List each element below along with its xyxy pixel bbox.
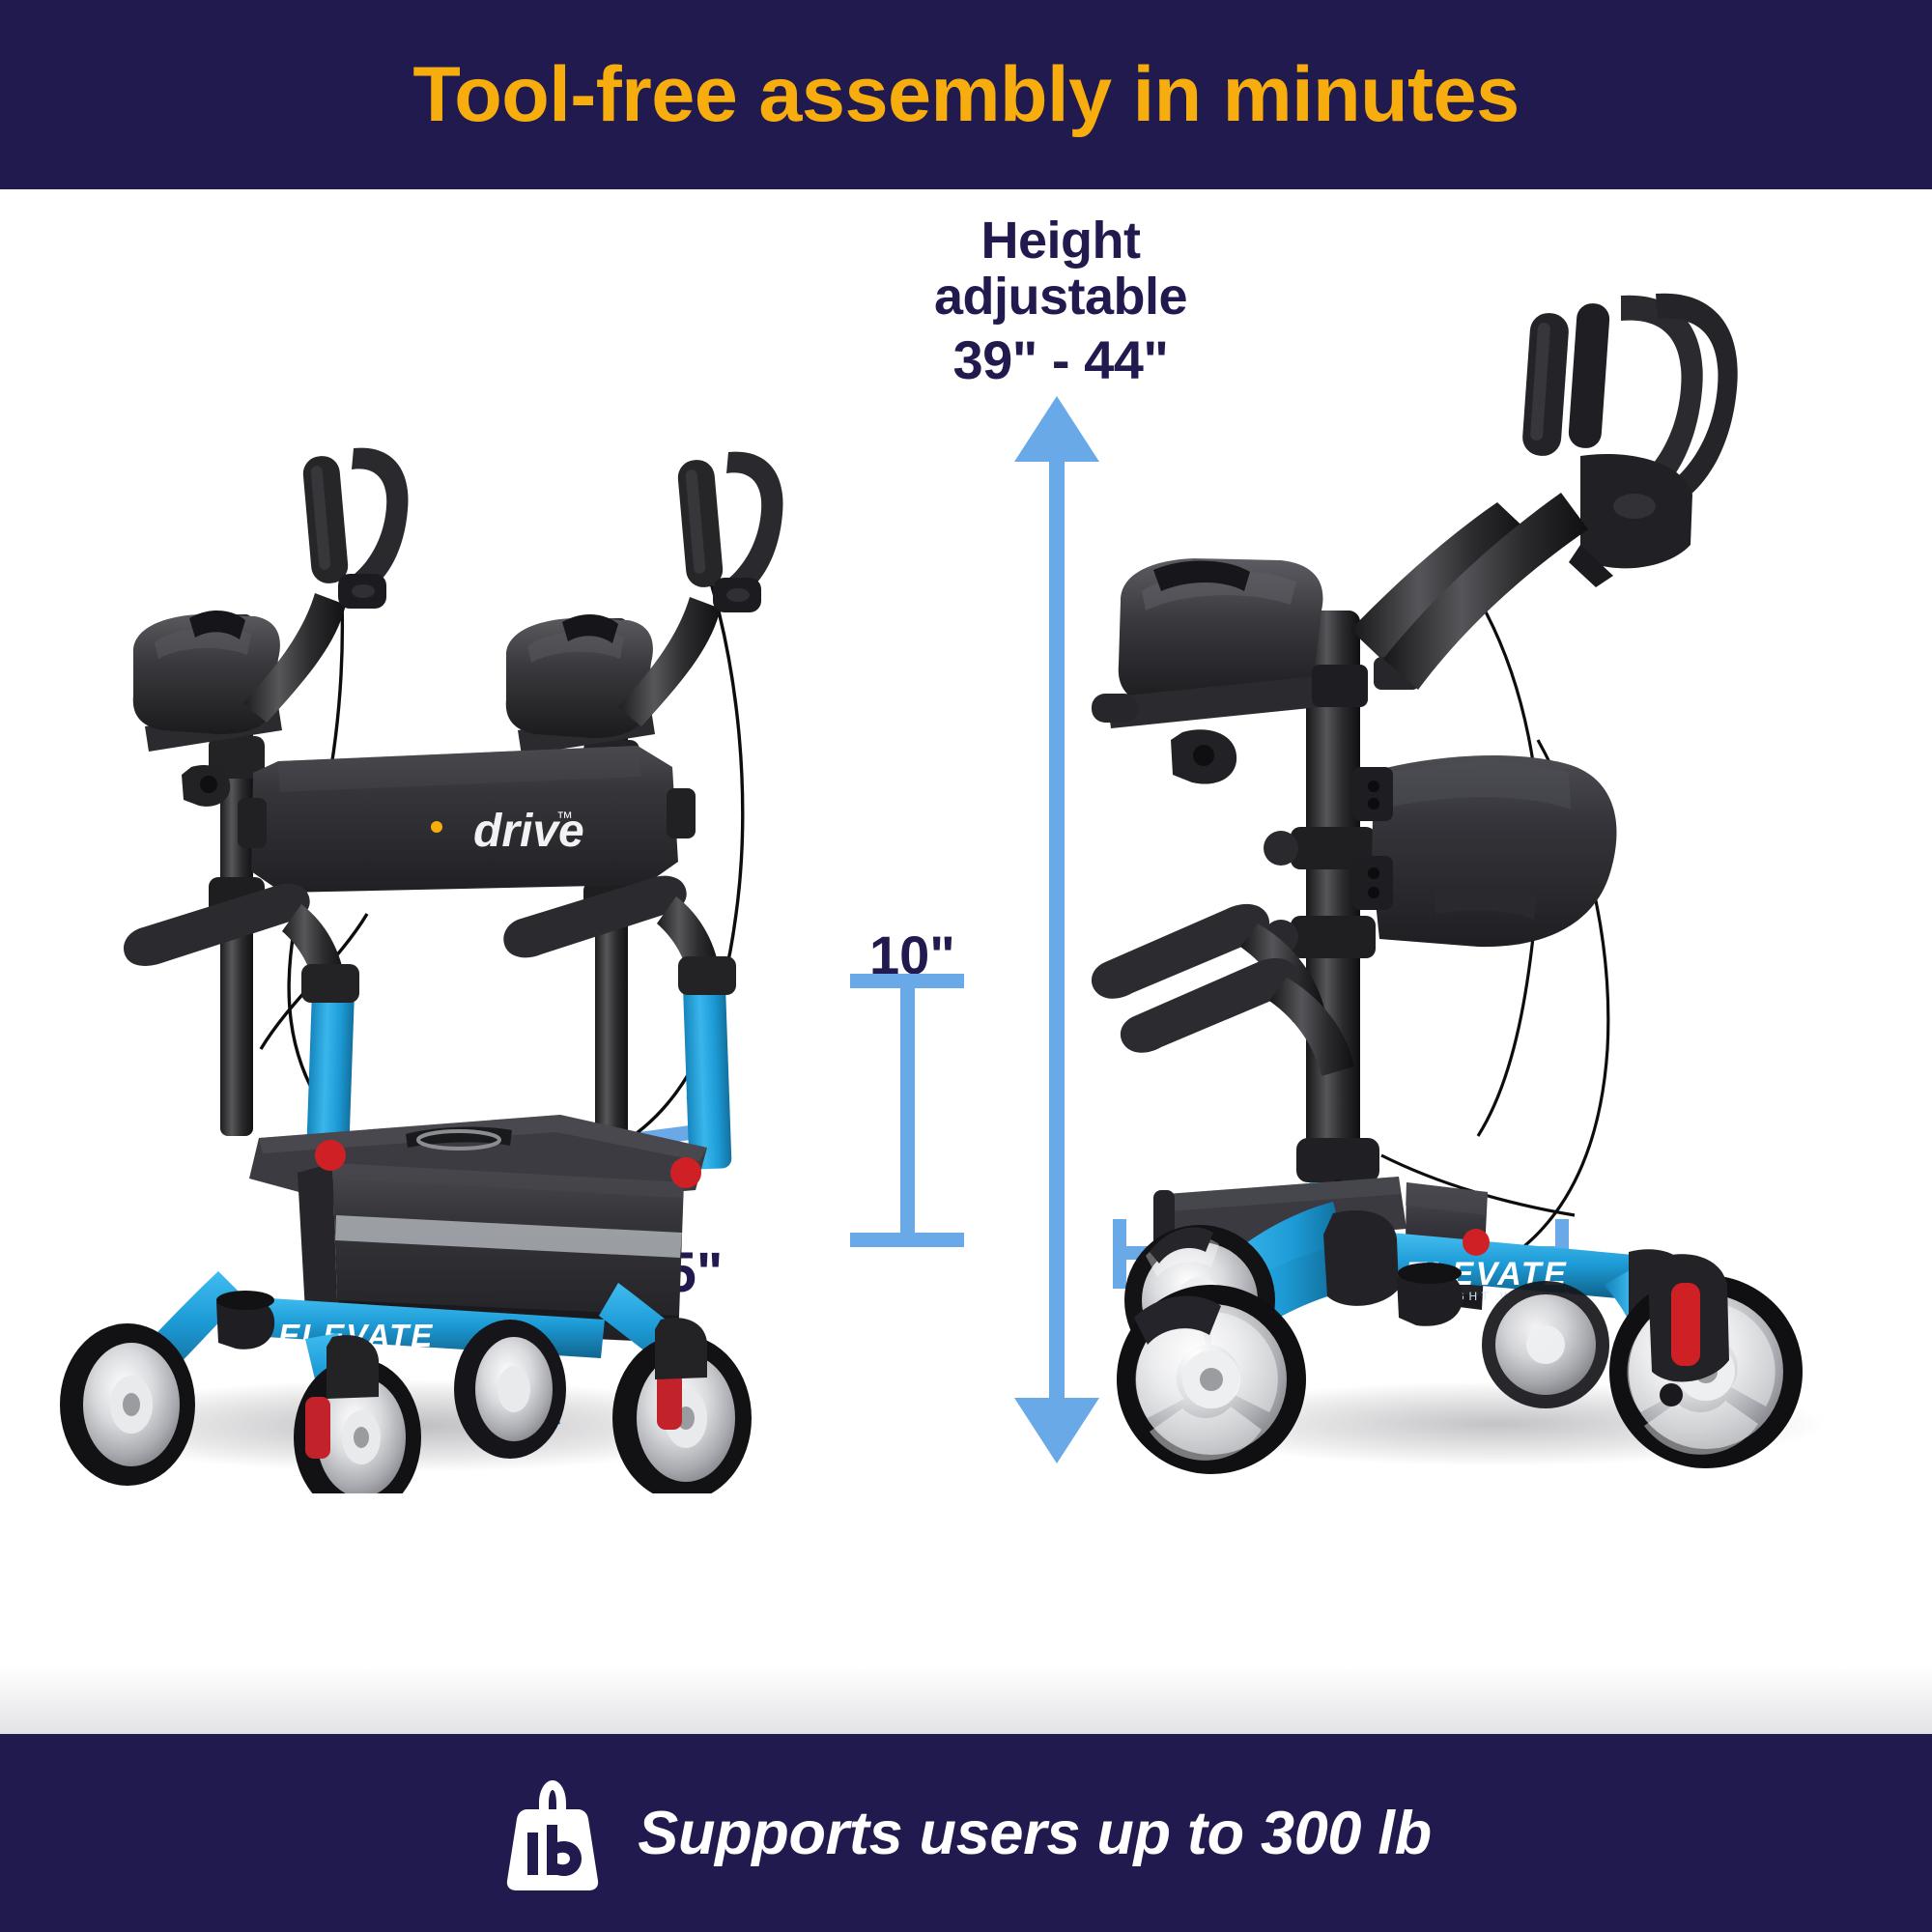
cup-holder-side [1397, 1263, 1463, 1326]
rollator-side-view: ELEVATE UPRIGHT WALKER [1092, 286, 1922, 1493]
seat-release-button-side [1463, 1229, 1490, 1256]
wheel-rear-lower-side [1117, 1285, 1306, 1474]
top-banner-title: Tool-free assembly in minutes [412, 56, 1519, 134]
left-handgrip-brake [301, 448, 408, 609]
wheel-rear-left [60, 1323, 195, 1486]
height-callout-line1: Height [858, 213, 1264, 269]
product-stage: Height adjustable 39" - 44" 10" 31.5" 25… [0, 189, 1932, 1734]
seat-release-button-right [670, 1157, 701, 1188]
floor-gradient [0, 1666, 1932, 1734]
wheel-small-rear-side [1482, 1281, 1609, 1408]
bottom-banner: Supports users up to 300 lb [0, 1734, 1932, 1932]
wheel-rear-right [612, 1318, 752, 1493]
seat-release-button-left [315, 1140, 346, 1171]
bottom-banner-text: Supports users up to 300 lb [638, 1799, 1432, 1868]
backrest-strap: drive ™ [238, 746, 696, 893]
backrest-strap-side [1352, 755, 1616, 947]
brake-reflector-left [305, 1397, 330, 1459]
weight-lb-icon [500, 1775, 605, 1892]
forearm-pad-side [1092, 558, 1420, 784]
brake-reflector-front-side [1671, 1283, 1700, 1366]
cup-holder [216, 1291, 274, 1350]
brake-reflector-right [657, 1372, 682, 1430]
top-banner: Tool-free assembly in minutes [0, 0, 1932, 189]
drive-trademark: ™ [556, 809, 573, 827]
right-handgrip-brake [676, 452, 782, 612]
wheel-mid-right [454, 1320, 566, 1459]
rollator-front-view: drive ™ [19, 286, 889, 1493]
